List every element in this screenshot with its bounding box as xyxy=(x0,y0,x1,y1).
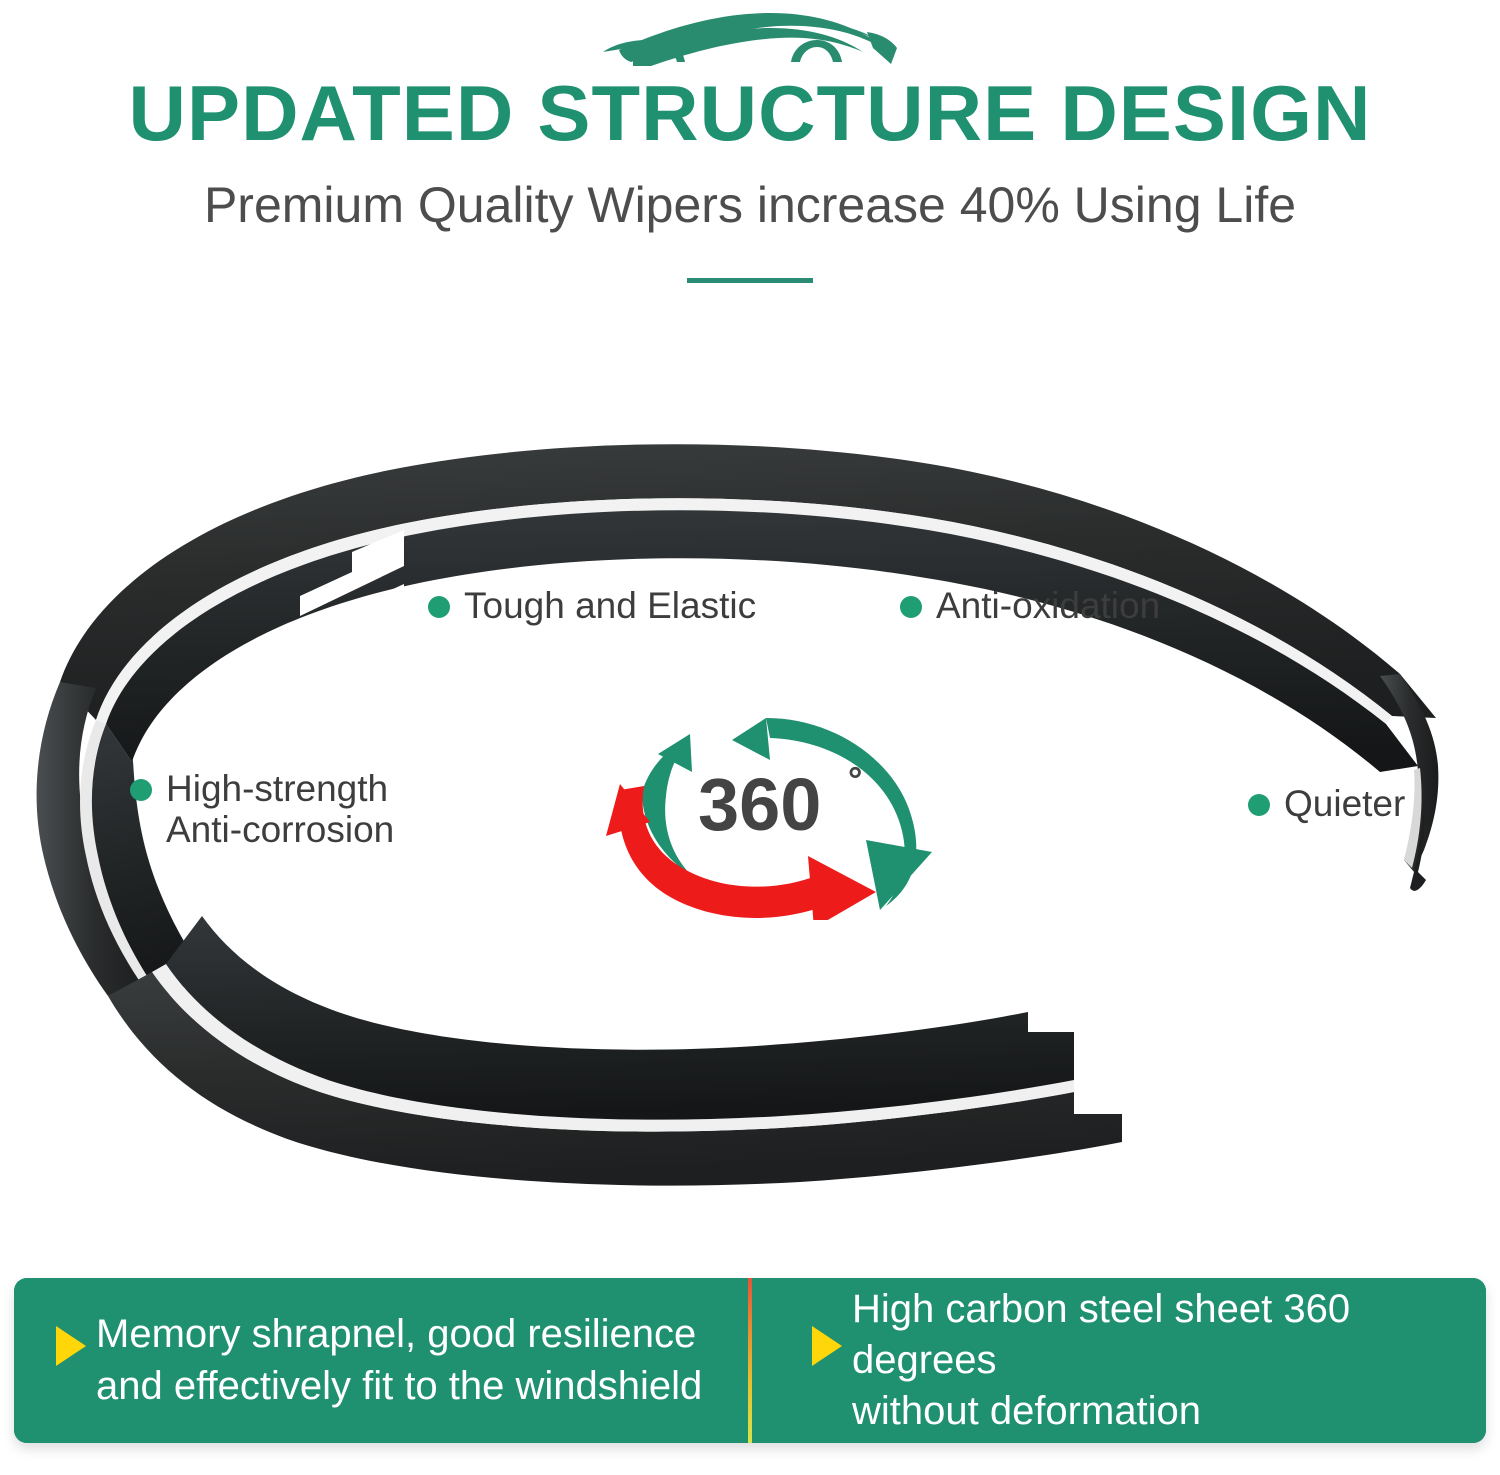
banner-text-block: Memory shrapnel, good resilience and eff… xyxy=(96,1309,702,1411)
feature-label-text: Quieter xyxy=(1284,783,1405,824)
bullet-dot-icon xyxy=(1248,794,1270,816)
page-subtitle: Premium Quality Wipers increase 40% Usin… xyxy=(0,180,1500,230)
bullet-dot-icon xyxy=(428,596,450,618)
bottom-feature-banner-row: Memory shrapnel, good resilience and eff… xyxy=(14,1278,1486,1443)
feature-label-quieter: Quieter xyxy=(1248,783,1405,824)
feature-label-anti-oxidation: Anti-oxidation xyxy=(900,585,1160,626)
feature-label-text: Tough and Elastic xyxy=(464,585,756,626)
rotation-360-badge-graphic: 360 ° xyxy=(580,700,960,920)
feature-label-line1: High-strength xyxy=(166,768,394,809)
badge-degree-symbol: ° xyxy=(848,759,862,800)
banner-line1: High carbon steel sheet 360 degrees xyxy=(852,1284,1462,1386)
car-silhouette-icon xyxy=(595,4,905,66)
badge-value-text: 360 xyxy=(698,763,821,846)
feature-label-text: Anti-oxidation xyxy=(936,585,1160,626)
feature-label-line2: Anti-corrosion xyxy=(166,809,394,850)
feature-label-high-strength: High-strength Anti-corrosion xyxy=(130,768,394,851)
bullet-dot-icon xyxy=(130,779,152,801)
rotation-360-badge: 360 ° xyxy=(580,700,960,920)
page-title: UPDATED STRUCTURE DESIGN xyxy=(0,74,1500,152)
feature-label-text-block: High-strength Anti-corrosion xyxy=(166,768,394,851)
triangle-bullet-icon xyxy=(56,1326,86,1366)
header: UPDATED STRUCTURE DESIGN Premium Quality… xyxy=(0,0,1500,283)
title-divider-rule xyxy=(687,278,813,283)
banner-line1: Memory shrapnel, good resilience xyxy=(96,1309,702,1360)
banner-text-block: High carbon steel sheet 360 degrees with… xyxy=(852,1284,1462,1438)
banner-line2: without deformation xyxy=(852,1386,1462,1437)
banner-line2: and effectively fit to the windshield xyxy=(96,1361,702,1412)
bullet-dot-icon xyxy=(900,596,922,618)
banner-panel-memory-shrapnel: Memory shrapnel, good resilience and eff… xyxy=(14,1278,748,1443)
banner-panel-high-carbon-steel: High carbon steel sheet 360 degrees with… xyxy=(752,1278,1486,1443)
feature-label-tough-and-elastic: Tough and Elastic xyxy=(428,585,756,626)
triangle-bullet-icon xyxy=(812,1326,842,1366)
